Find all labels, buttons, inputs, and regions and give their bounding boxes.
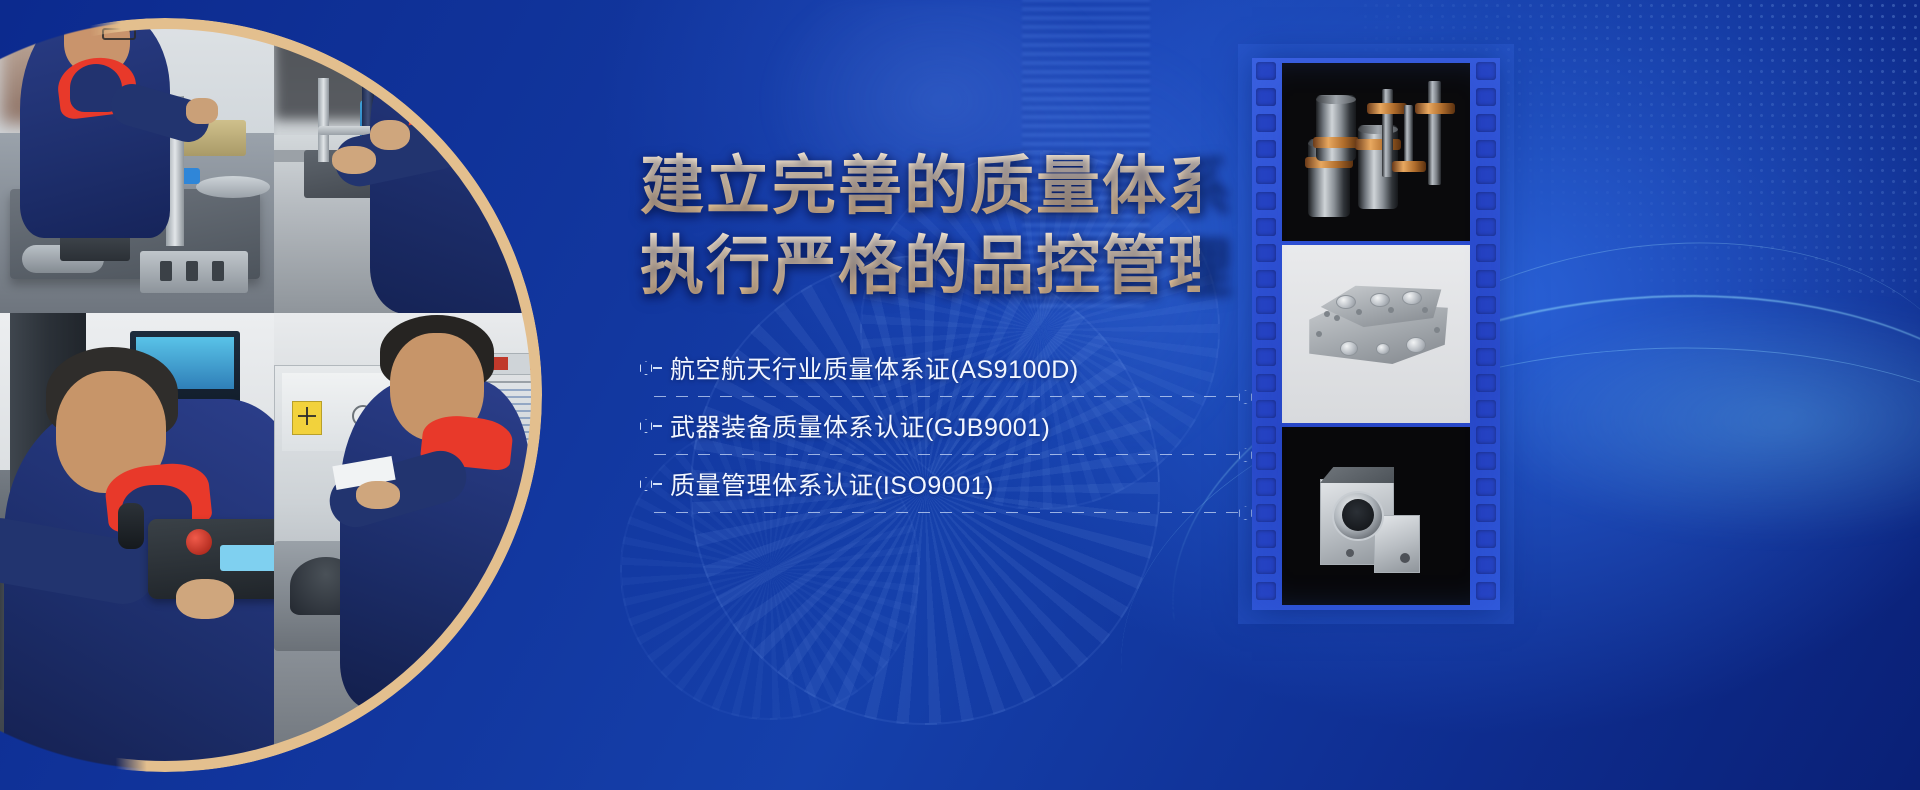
- headline-line-1: 建立完善的质量体系: [640, 150, 1200, 224]
- left-photo-collage: [0, 0, 560, 790]
- film-perforations-left: [1256, 58, 1276, 610]
- certification-list: 航空航天行业质量体系证(AS9100D) 武器装备质量体系认证(GJB9001)…: [640, 339, 1200, 513]
- hexagon-end-icon: [1239, 448, 1252, 462]
- hexagon-bullet-icon: [640, 476, 655, 492]
- certification-label: 武器装备质量体系认证(GJB9001): [670, 408, 1050, 444]
- photo-cmm-measuring: [0, 313, 274, 790]
- dashed-divider: [654, 512, 1240, 513]
- hexagon-bullet-icon: [640, 418, 655, 434]
- hexagon-bullet-icon: [640, 360, 655, 376]
- photo-precision-bushings: [1282, 63, 1470, 241]
- product-film-strip: [1252, 58, 1500, 610]
- hexagon-end-icon: [1239, 506, 1252, 520]
- certification-row: 航空航天行业质量体系证(AS9100D): [640, 339, 1200, 397]
- photo-aluminium-housing: [1282, 245, 1470, 423]
- photo-bench-measurement: [274, 0, 560, 313]
- photo-height-gauge-inspection: [0, 0, 274, 313]
- photo-bearing-block: [1282, 427, 1470, 605]
- certification-row: 质量管理体系认证(ISO9001): [640, 455, 1200, 513]
- certification-row: 武器装备质量体系认证(GJB9001): [640, 397, 1200, 455]
- film-perforations-right: [1476, 58, 1496, 610]
- quality-system-banner: 建立完善的质量体系 执行严格的品控管理 航空航天行业质量体系证(AS9100D)…: [0, 0, 1920, 790]
- hexagon-end-icon: [1239, 390, 1252, 404]
- certification-label: 质量管理体系认证(ISO9001): [670, 466, 994, 502]
- center-content: 建立完善的质量体系 执行严格的品控管理 航空航天行业质量体系证(AS9100D)…: [640, 150, 1200, 513]
- right-glow: [1460, 290, 1920, 550]
- headline-line-2: 执行严格的品控管理: [640, 230, 1200, 304]
- photo-cnc-operator: [274, 313, 560, 790]
- headline-block: 建立完善的质量体系 执行严格的品控管理: [640, 150, 1200, 303]
- certification-label: 航空航天行业质量体系证(AS9100D): [670, 350, 1079, 386]
